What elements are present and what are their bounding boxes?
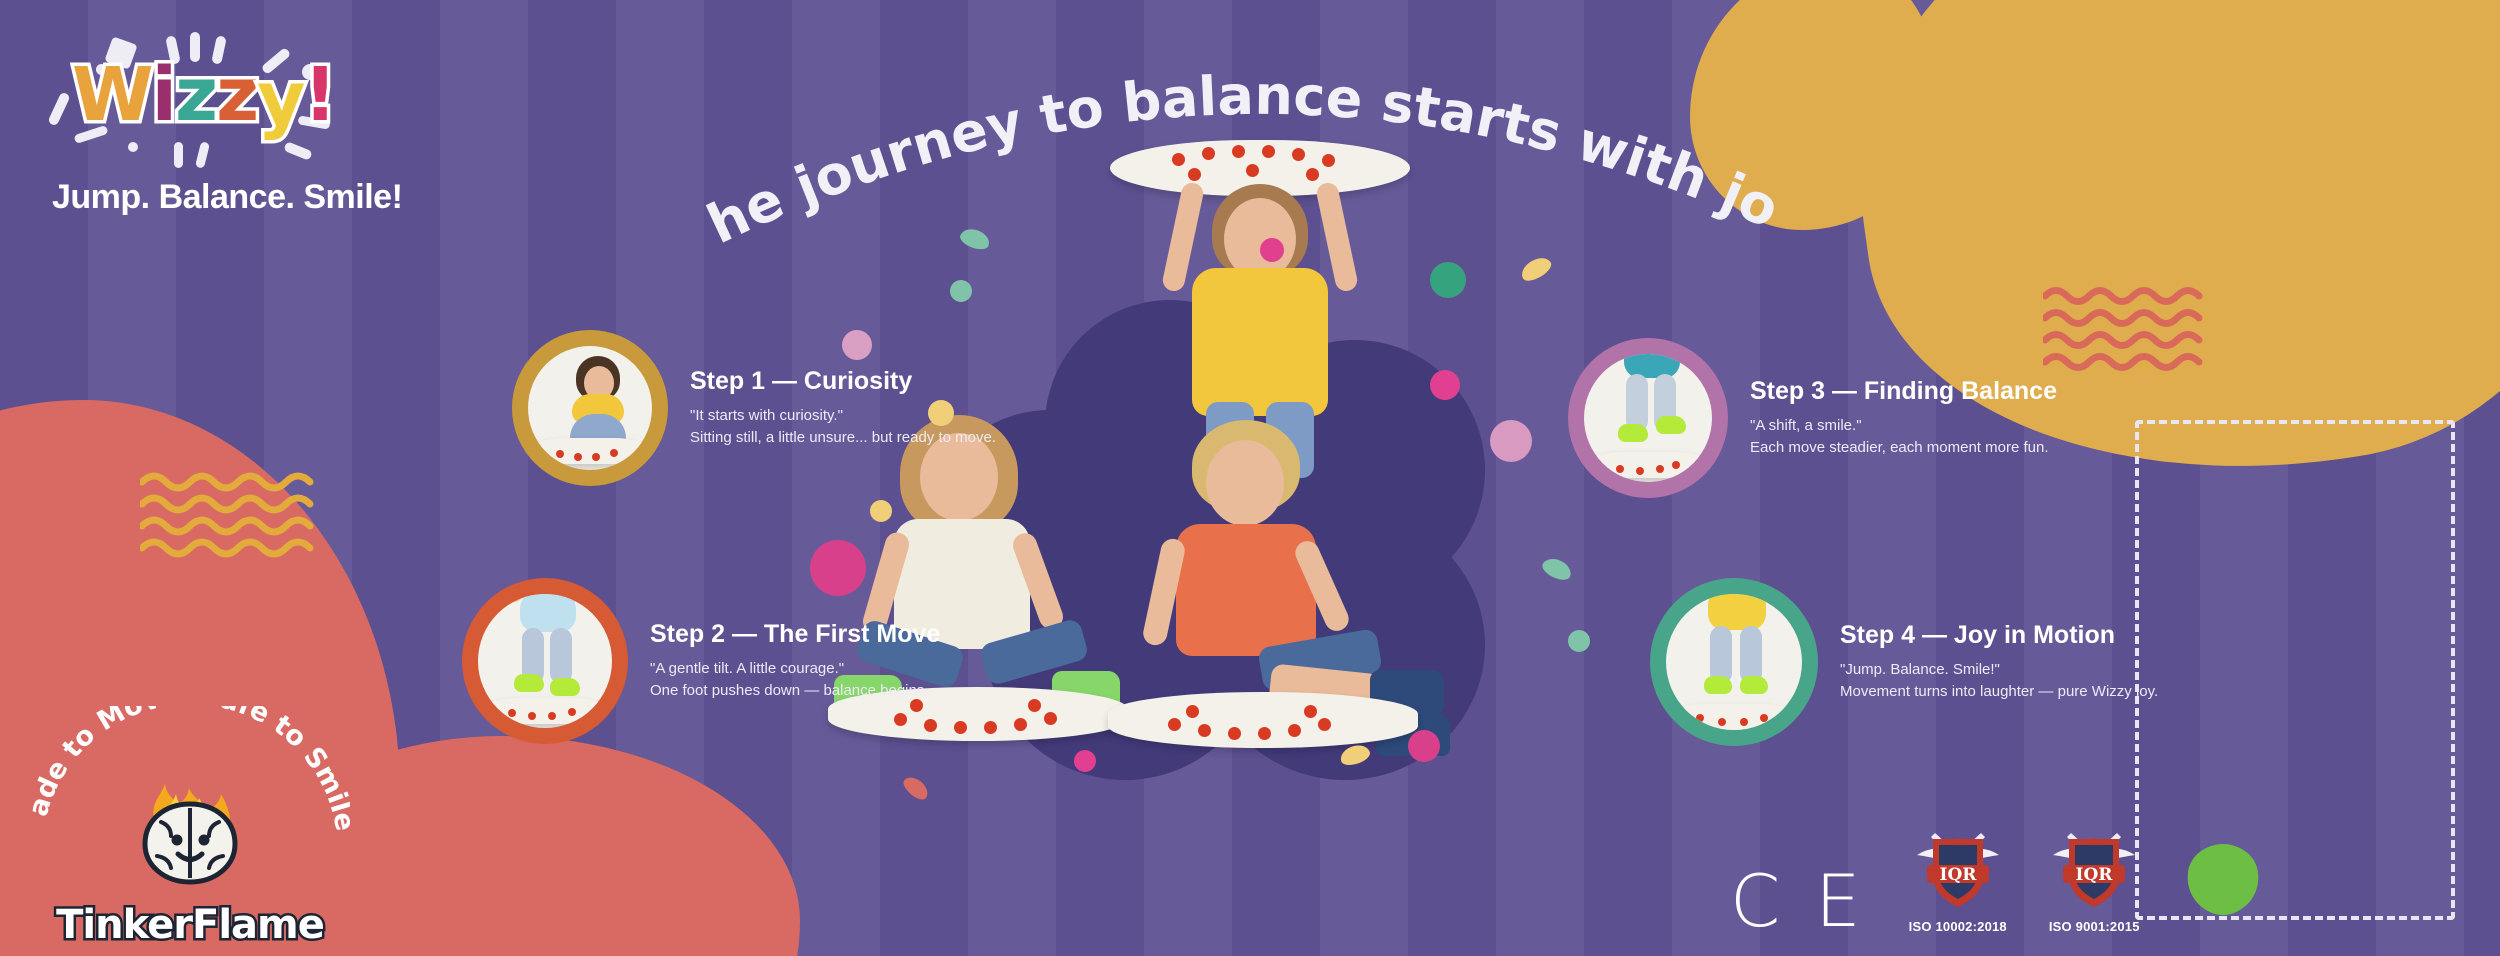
step-3-photo <box>1610 354 1690 450</box>
iqr-badge-iso-10002: IQR ISO 10002:2018 <box>1909 827 2007 934</box>
wizzy-logo-block: Wizzy! Jump. Balance. Smile! <box>48 30 428 217</box>
step-3-desc: Each move steadier, each moment more fun… <box>1750 437 2057 459</box>
brain-eye-icon <box>199 835 210 846</box>
wizzy-logo: Wizzy! <box>48 30 408 160</box>
brand-tagline: Jump. Balance. Smile! <box>52 178 428 217</box>
iso-9001-label: ISO 9001:2015 <box>2049 919 2140 934</box>
step-2-title: Step 2 — The First Move <box>650 620 940 649</box>
step-3-quote: "A shift, a smile." <box>1750 415 2057 437</box>
confetti-banana <box>958 225 992 252</box>
tinkerflame-logo-block: Made to Move. Safe to Smile! <box>30 726 350 948</box>
tinkerflame-name: TinkerFlame <box>30 902 350 948</box>
recycle-leaves-icon <box>2182 838 2264 920</box>
step-2-quote: "A gentle tilt. A little courage." <box>650 658 940 680</box>
svg-text:IQR: IQR <box>1939 865 1977 885</box>
sparkle-icon <box>174 142 183 168</box>
coral-wave-lines <box>2043 285 2239 373</box>
sparkle-icon <box>195 141 210 168</box>
step-4-photo <box>1694 594 1774 702</box>
step-1-desc: Sitting still, a little unsure... but re… <box>690 427 996 449</box>
step-4-desc: Movement turns into laughter — pure Wizz… <box>1840 681 2158 703</box>
confetti-dot <box>1408 730 1440 762</box>
confetti-dot <box>1490 420 1532 462</box>
step-3-image-ring <box>1568 338 1728 498</box>
step-2-photo <box>506 594 586 698</box>
confetti-dot <box>1430 262 1466 298</box>
confetti-banana <box>900 773 932 803</box>
confetti-banana <box>1540 555 1575 584</box>
ce-mark-glyph: C E <box>1730 869 1867 934</box>
step-card-3[interactable]: Step 3 — Finding Balance "A shift, a smi… <box>1568 338 2057 498</box>
sparkle-dot-icon <box>128 142 138 152</box>
amber-wave-lines <box>140 470 340 560</box>
svg-text:IQR: IQR <box>2076 865 2114 885</box>
step-2-desc: One foot pushes down — balance begins. <box>650 680 940 702</box>
iqr-shield-icon: IQR <box>1913 827 2003 911</box>
wizzy-wordmark: Wizzy! <box>72 52 335 138</box>
ce-mark: C E <box>1730 869 1867 934</box>
brain-flame-icon <box>115 778 265 898</box>
confetti-banana <box>1518 253 1555 285</box>
step-4-quote: "Jump. Balance. Smile!" <box>1840 659 2158 681</box>
product-banner: Wizzy! Jump. Balance. Smile! The journey… <box>0 0 2500 956</box>
certification-row: C E IQR ISO 10002:2018 <box>1730 827 2264 934</box>
balance-board <box>1668 704 1800 730</box>
step-2-image-ring <box>462 578 628 744</box>
balance-board <box>1586 452 1712 478</box>
sparkle-icon <box>283 141 313 161</box>
balance-board <box>480 698 610 724</box>
step-4-image-ring <box>1650 578 1818 746</box>
iqr-shield-icon: IQR <box>2049 827 2139 911</box>
step-card-2[interactable]: Step 2 — The First Move "A gentle tilt. … <box>462 578 940 744</box>
confetti-dot <box>1568 630 1590 652</box>
step-1-image-ring <box>512 330 668 486</box>
confetti-star <box>1260 238 1284 262</box>
iqr-badge-iso-9001: IQR ISO 9001:2015 <box>2049 827 2140 934</box>
balance-board <box>530 438 650 464</box>
iso-10002-label: ISO 10002:2018 <box>1909 919 2007 934</box>
sparkle-icon <box>47 91 70 126</box>
step-card-1[interactable]: Step 1 — Curiosity "It starts with curio… <box>512 330 996 486</box>
brain-eye-icon <box>172 835 183 846</box>
confetti-star <box>1074 750 1096 772</box>
confetti-star <box>870 500 892 522</box>
step-4-title: Step 4 — Joy in Motion <box>1840 621 2158 650</box>
step-1-title: Step 1 — Curiosity <box>690 367 996 396</box>
step-card-4[interactable]: Step 4 — Joy in Motion "Jump. Balance. S… <box>1650 578 2158 746</box>
balance-board <box>1108 692 1418 748</box>
child-orange-shirt <box>1120 420 1450 750</box>
step-3-title: Step 3 — Finding Balance <box>1750 377 2057 406</box>
brain-icon <box>145 804 235 882</box>
confetti-dot <box>1430 370 1460 400</box>
confetti-dot <box>950 280 972 302</box>
step-1-quote: "It starts with curiosity." <box>690 405 996 427</box>
